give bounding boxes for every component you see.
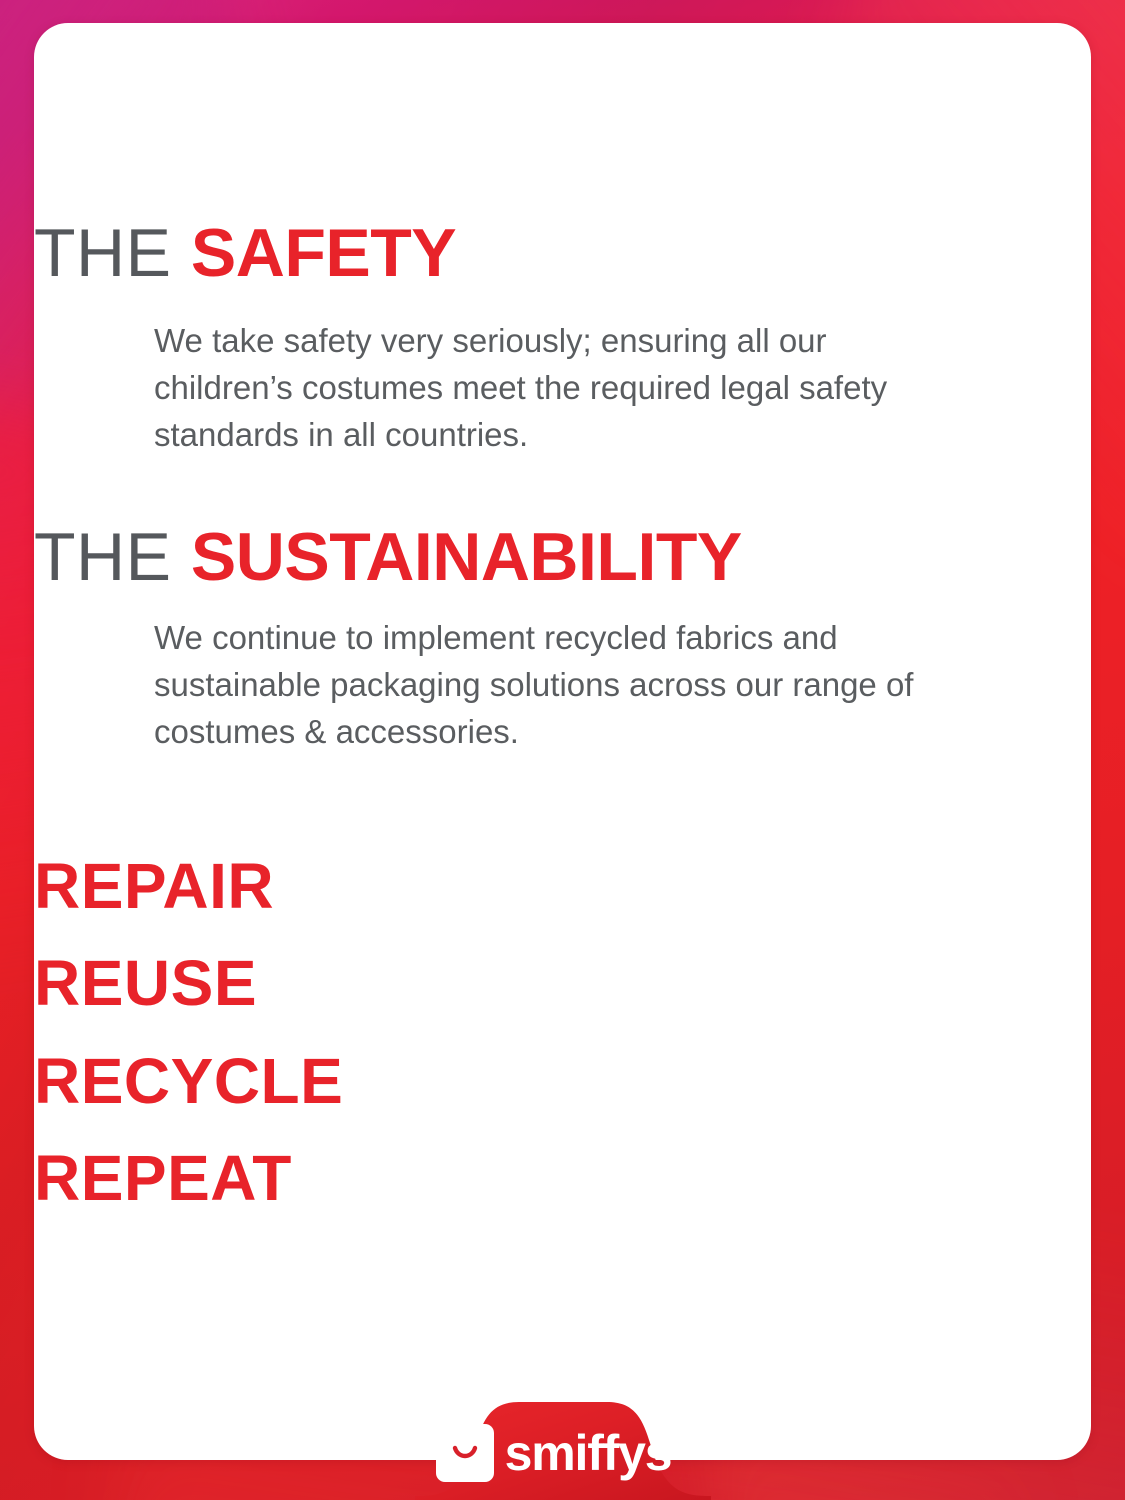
safety-body-text: We take safety very seriously; ensuring …: [154, 318, 971, 459]
sustainability-heading-highlight: SUSTAINABILITY: [191, 519, 742, 595]
mantra-item: RECYCLE: [34, 1033, 1091, 1130]
sustainability-heading-prefix: THE: [34, 519, 172, 595]
smiffys-logo-tab: smiffys™: [415, 1392, 711, 1500]
logo-lockup: smiffys™: [415, 1422, 711, 1484]
mantra-item: REPEAT: [34, 1130, 1091, 1227]
smiffys-wordmark: smiffys™: [505, 1428, 690, 1478]
wordmark-text: smiffys: [505, 1425, 672, 1481]
mantra-item: REUSE: [34, 935, 1091, 1032]
mantra-list: REPAIR REUSE RECYCLE REPEAT: [34, 838, 1091, 1227]
mantra-item: REPAIR: [34, 838, 1091, 935]
sustainability-heading: THE SUSTAINABILITY: [34, 523, 1091, 591]
trademark-symbol: ™: [674, 1426, 689, 1441]
smile-icon: [436, 1424, 494, 1482]
content-card: THE SAFETY We take safety very seriously…: [34, 23, 1091, 1460]
safety-heading: THE SAFETY: [34, 219, 1091, 287]
safety-heading-highlight: SAFETY: [191, 215, 456, 291]
poster-canvas: THE SAFETY We take safety very seriously…: [0, 0, 1125, 1500]
safety-heading-prefix: THE: [34, 215, 172, 291]
sustainability-body-text: We continue to implement recycled fabric…: [154, 615, 971, 756]
